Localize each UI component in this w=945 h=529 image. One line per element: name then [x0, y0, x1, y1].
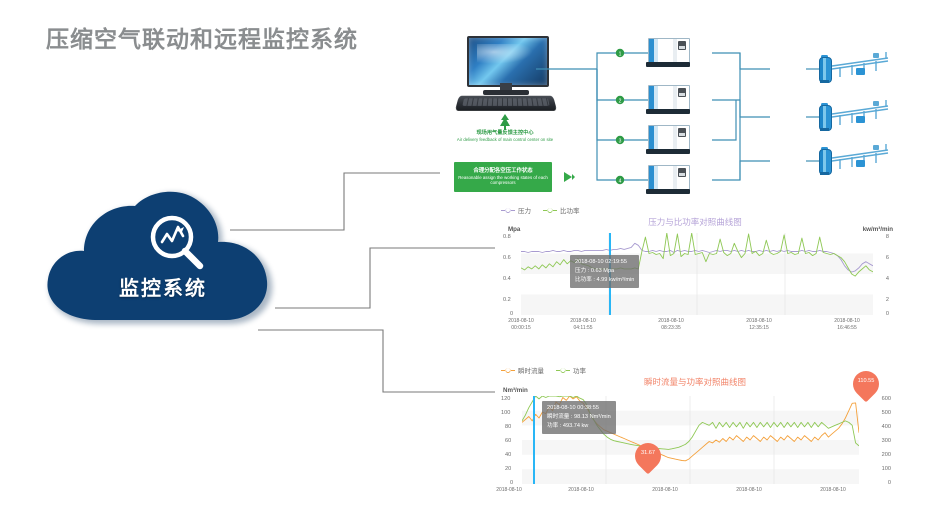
chart-1-y2-unit: kw/m³/min [863, 226, 893, 233]
chart-1-y-unit: Mpa [508, 226, 520, 233]
legend-label: 功率 [573, 365, 586, 375]
system-diagram-panel: 现场用气量反馈主控中心 Air delivery feedback of mai… [440, 22, 940, 202]
cloud-label: 监控系统 [34, 272, 292, 301]
factory-pipeline [830, 98, 892, 130]
chart-2-marker-high[interactable]: 110.55 [853, 371, 879, 405]
y-tick: 100 [501, 410, 510, 416]
chart-2-y-unit: Nm³/min [503, 387, 528, 394]
svg-text:1: 1 [619, 51, 622, 57]
compressor-unit [646, 165, 690, 195]
x-tick: 2018-08-10 [807, 487, 859, 494]
chart-2-title: 瞬时流量与功率对照曲线图 [495, 376, 895, 388]
x-tick: 2018-08-10 12:35:15 [733, 318, 785, 332]
flow-power-chart-panel[interactable]: 瞬时流量 功率 瞬时流量与功率对照曲线图 Nm³/min 120 100 80 … [495, 365, 895, 510]
y-tick: 80 [505, 424, 511, 430]
y2-tick: 600 [882, 396, 891, 402]
tooltip-time: 2018-08-10 02:19:55 [575, 258, 634, 267]
marker-label: 110.55 [853, 378, 879, 384]
x-tick: 2018-08-10 [555, 487, 607, 494]
marker-label: 31.67 [635, 450, 661, 456]
magnifier-chart-icon [146, 215, 208, 271]
chart-1-title: 压力与比功率对照曲线图 [495, 216, 895, 228]
y-tick: 0.6 [503, 255, 511, 261]
y2-tick: 8 [886, 234, 889, 240]
legend-item-flow[interactable]: 瞬时流量 [501, 365, 544, 375]
y-tick: 40 [505, 452, 511, 458]
legend-item-specific-power[interactable]: 比功率 [543, 205, 580, 215]
chart-1-legend[interactable]: 压力 比功率 [501, 205, 580, 215]
tooltip-row: 压力 : 0.63 Mpa [575, 267, 634, 276]
y-tick: 0 [510, 480, 513, 486]
y-tick: 120 [501, 396, 510, 402]
legend-marker-icon [501, 207, 515, 214]
legend-marker-icon [556, 367, 570, 374]
factory-pipeline [830, 50, 892, 82]
svg-text:2: 2 [619, 98, 622, 104]
compressor-unit [646, 85, 690, 115]
legend-label: 比功率 [560, 205, 580, 215]
y2-tick: 400 [882, 424, 891, 430]
connector-to-chart-2 [258, 330, 495, 392]
chart-2-tooltip: 2018-08-10 00:38:55 瞬时流量 : 98.13 Nm³/min… [542, 401, 616, 434]
y2-tick: 200 [882, 452, 891, 458]
tooltip-row: 瞬时流量 : 98.13 Nm³/min [547, 413, 611, 422]
connector-to-chart-1 [275, 248, 495, 308]
factory-pipeline [830, 142, 892, 174]
compressor-unit [646, 125, 690, 155]
legend-marker-icon [501, 367, 515, 374]
y2-tick: 0 [888, 480, 891, 486]
x-tick: 2018-08-10 [639, 487, 691, 494]
tooltip-time: 2018-08-10 00:38:55 [547, 404, 611, 413]
svg-text:4: 4 [619, 178, 622, 184]
y2-tick: 6 [886, 255, 889, 261]
air-tank [819, 103, 830, 131]
legend-label: 压力 [518, 205, 531, 215]
x-tick: 2018-08-10 08:23:35 [645, 318, 697, 332]
legend-item-power[interactable]: 功率 [556, 365, 586, 375]
legend-label: 瞬时流量 [518, 365, 544, 375]
y-tick: 0.8 [503, 234, 511, 240]
legend-item-pressure[interactable]: 压力 [501, 205, 531, 215]
slide-root: 压缩空气联动和远程监控系统 监控系统 [0, 0, 945, 529]
y2-tick: 300 [882, 438, 891, 444]
chart-2-legend[interactable]: 瞬时流量 功率 [501, 365, 586, 375]
y2-tick: 0 [886, 311, 889, 317]
legend-marker-icon [543, 207, 557, 214]
y2-tick: 100 [882, 466, 891, 472]
y-tick: 0 [510, 311, 513, 317]
chart-2-marker-low[interactable]: 31.67 [635, 443, 661, 477]
svg-text:3: 3 [619, 138, 622, 144]
x-tick: 2018-08-10 00:00:15 [495, 318, 547, 332]
x-tick: 2018-08-10 [483, 487, 535, 494]
node-indicators: 1 2 3 4 [616, 49, 624, 185]
y-tick: 60 [505, 438, 511, 444]
tooltip-row: 比功率 : 4.99 kw/m³/min [575, 276, 634, 285]
chart-2-cursor-line [533, 396, 535, 484]
air-tank [819, 55, 830, 83]
y2-tick: 500 [882, 410, 891, 416]
y-tick: 0.2 [503, 297, 511, 303]
y-tick: 20 [505, 466, 511, 472]
x-tick: 2018-08-10 04:11:55 [557, 318, 609, 332]
compressor-unit [646, 38, 690, 68]
y-tick: 0.4 [503, 276, 511, 282]
pressure-chart-panel[interactable]: 压力 比功率 压力与比功率对照曲线图 Mpa kw/m³/min 0.8 0.6… [495, 205, 895, 335]
monitoring-cloud[interactable]: 监控系统 [34, 186, 292, 326]
chart-1-tooltip: 2018-08-10 02:19:55 压力 : 0.63 Mpa 比功率 : … [570, 255, 639, 288]
y2-tick: 2 [886, 297, 889, 303]
tooltip-row: 功率 : 493.74 kw [547, 422, 611, 431]
y2-tick: 4 [886, 276, 889, 282]
x-tick: 2018-08-10 [723, 487, 775, 494]
air-tank [819, 147, 830, 175]
x-tick: 2018-08-10 16:46:55 [821, 318, 873, 332]
